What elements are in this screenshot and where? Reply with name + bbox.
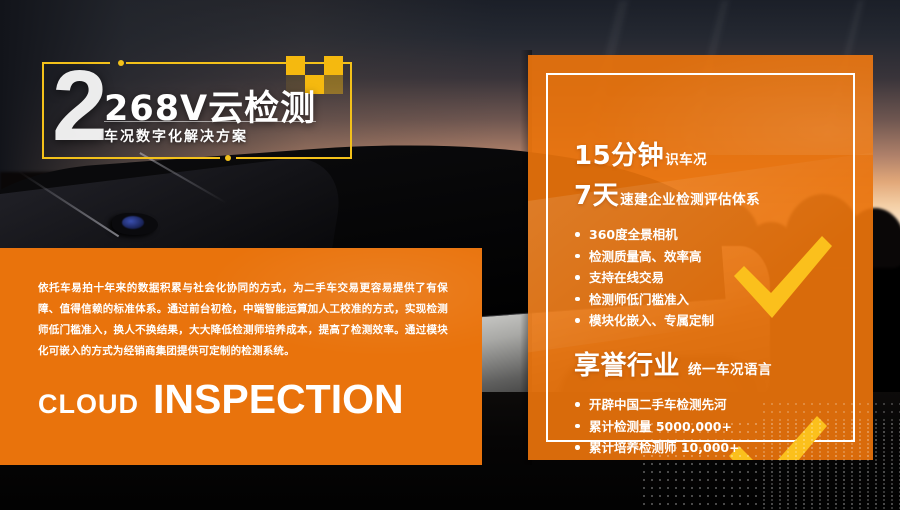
frame-edge-bottom-right	[236, 157, 352, 159]
headline-emphasis: 15分钟	[574, 141, 664, 171]
brand-word-cloud: CLOUD	[38, 389, 139, 419]
mirror-glass	[122, 216, 144, 229]
list-item: 累计培养检测师 10,000+	[574, 437, 772, 459]
right-highlights-panel: 15分钟识车况 7天速建企业检测评估体系 360度全景相机 检测质量高、效率高 …	[528, 55, 873, 460]
feature-list: 开辟中国二手车检测先河 累计检测量 5000,000+ 累计培养检测师 10,0…	[574, 394, 772, 460]
headline-detail: 识车况	[665, 152, 707, 168]
feature-list: 360度全景相机 检测质量高、效率高 支持在线交易 检测师低门槛准入 模块化嵌入…	[574, 224, 760, 332]
frame-dot-bottom	[225, 155, 231, 161]
frame-dot-top	[118, 60, 124, 66]
list-item: 开辟中国二手车检测先河	[574, 394, 772, 416]
page-title: 268V云检测	[104, 80, 316, 131]
list-item: 检测质量高、效率高	[574, 246, 760, 268]
headline-emphasis: 7天	[574, 181, 619, 211]
list-item: 检测师低门槛准入	[574, 289, 760, 311]
brand-word-inspection: INSPECTION	[153, 376, 404, 422]
section-number: 2	[52, 56, 105, 156]
left-description-panel: 依托车易拍十年来的数据积累与社会化协同的方式，为二手车交易更容易提供了有保障、值…	[0, 248, 482, 465]
list-item: 支持在线交易	[574, 267, 760, 289]
title-divider	[104, 121, 316, 122]
frame-edge-left	[42, 62, 44, 159]
slide-canvas: 2 268V云检测 车况数字化解决方案 依托车易拍十年来的数据积累与社会化协同的…	[0, 0, 900, 510]
checker-square	[286, 56, 305, 75]
headline-row: 15分钟识车况	[574, 135, 760, 172]
frame-edge-right	[350, 62, 352, 159]
page-subtitle: 车况数字化解决方案	[104, 126, 248, 146]
list-item: 360度全景相机	[574, 224, 760, 246]
highlight-section-2: 享誉行业统一车况语言 开辟中国二手车检测先河 累计检测量 5000,000+ 累…	[574, 345, 772, 460]
headline-row: 7天速建企业检测评估体系	[574, 175, 760, 212]
list-item: 覆盖车型 95%	[574, 459, 772, 461]
checker-square	[324, 56, 343, 75]
headline-emphasis: 享誉行业	[574, 351, 680, 381]
checker-square	[324, 75, 343, 94]
headline-row: 享誉行业统一车况语言	[574, 345, 772, 382]
headline-detail: 速建企业检测评估体系	[620, 192, 760, 208]
highlight-section-1: 15分钟识车况 7天速建企业检测评估体系 360度全景相机 检测质量高、效率高 …	[574, 135, 760, 332]
list-item: 模块化嵌入、专属定制	[574, 310, 760, 332]
list-item: 累计检测量 5000,000+	[574, 416, 772, 438]
description-paragraph: 依托车易拍十年来的数据积累与社会化协同的方式，为二手车交易更容易提供了有保障、值…	[38, 278, 448, 362]
headline-detail: 统一车况语言	[688, 362, 772, 378]
brand-wordmark: CLOUDINSPECTION	[38, 376, 404, 423]
